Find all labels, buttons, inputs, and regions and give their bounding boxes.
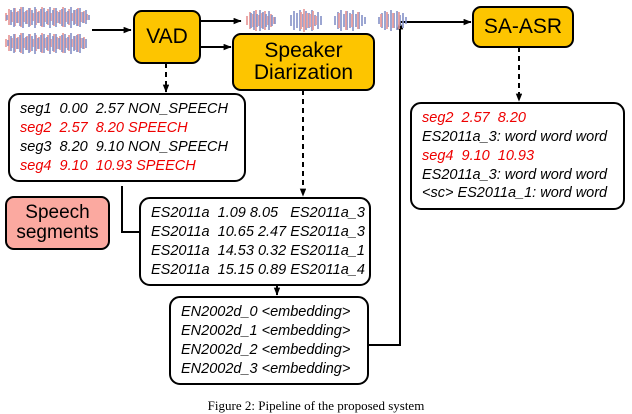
sa-asr-node[interactable]: SA-ASR <box>472 6 574 48</box>
speech-segments-node[interactable]: Speech segments <box>5 196 110 250</box>
table-row: seg2 2.57 8.20 <box>422 109 615 128</box>
table-row: ES2011a 15.15 0.89 ES2011a_4 <box>151 261 361 280</box>
diarization-label-line1: Speaker <box>264 40 342 62</box>
vad-node[interactable]: VAD <box>133 10 201 64</box>
table-row: EN2002d_0 <embedding> <box>181 303 359 322</box>
saasr-transcript-table: seg2 2.57 8.20ES2011a_3: word word words… <box>410 102 625 210</box>
table-row: EN2002d_3 <embedding> <box>181 360 359 379</box>
speaker-embedding-table: EN2002d_0 <embedding>EN2002d_1 <embeddin… <box>169 296 369 385</box>
table-row: ES2011a 10.65 2.47 ES2011a_3 <box>151 223 361 242</box>
diarization-rttm-table: ES2011a 1.09 8.05 ES2011a_3ES2011a 10.65… <box>139 197 371 286</box>
input-audio-waveform <box>2 6 94 56</box>
table-row: EN2002d_1 <embedding> <box>181 322 359 341</box>
vad-label: VAD <box>146 26 188 48</box>
diarization-label-line2: Diarization <box>254 62 353 84</box>
diagram-canvas: VAD Speaker Diarization SA-ASR Speech se… <box>0 0 632 414</box>
speaker-diarization-node[interactable]: Speaker Diarization <box>232 33 375 91</box>
table-row: seg4 9.10 10.93 SPEECH <box>20 157 236 176</box>
table-row: ES2011a 1.09 8.05 ES2011a_3 <box>151 204 361 223</box>
table-row: seg1 0.00 2.57 NON_SPEECH <box>20 100 236 119</box>
sa-asr-label: SA-ASR <box>484 16 562 38</box>
table-row: <sc> ES2011a_1: word word <box>422 184 615 203</box>
segmented-audio-waveform <box>244 8 422 34</box>
speech-segments-label-line1: Speech <box>25 203 89 223</box>
table-row: seg2 2.57 8.20 SPEECH <box>20 119 236 138</box>
figure-caption: Figure 2: Pipeline of the proposed syste… <box>0 398 632 414</box>
table-row: EN2002d_2 <embedding> <box>181 341 359 360</box>
table-row: seg4 9.10 10.93 <box>422 147 615 166</box>
table-row: ES2011a_3: word word word <box>422 166 615 185</box>
vad-segment-table: seg1 0.00 2.57 NON_SPEECHseg2 2.57 8.20 … <box>8 93 246 182</box>
table-row: seg3 8.20 9.10 NON_SPEECH <box>20 138 236 157</box>
table-row: ES2011a 14.53 0.32 ES2011a_1 <box>151 242 361 261</box>
speech-segments-label-line2: segments <box>16 223 98 243</box>
table-row: ES2011a_3: word word word <box>422 128 615 147</box>
